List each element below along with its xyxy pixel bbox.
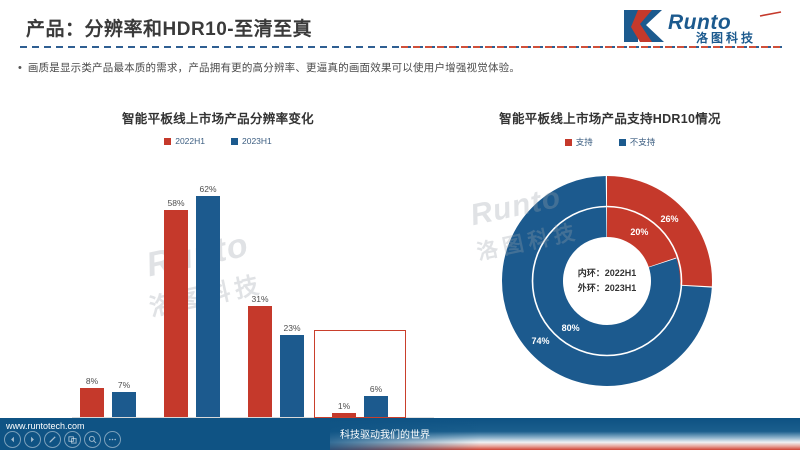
donut-center-line-2: 外环：2023H1 <box>578 281 637 296</box>
bar-rect[interactable] <box>364 396 388 417</box>
legend-item-not-support: 不支持 <box>619 136 656 148</box>
slide-header: 产品：分辨率和HDR10-至清至真 Runto 洛图科技 <box>0 0 800 56</box>
all-slides-button[interactable] <box>64 431 81 448</box>
slideshow-controls[interactable] <box>4 431 121 448</box>
previous-slide-button[interactable] <box>4 431 21 448</box>
bar-value-label: 6% <box>370 384 382 394</box>
page-title: 产品：分辨率和HDR10-至清至真 <box>26 14 312 41</box>
bar-2022h1[interactable]: 1% <box>332 167 356 417</box>
bar-rect[interactable] <box>164 210 188 417</box>
donut-center-label: 内环：2022H1 外环：2023H1 <box>578 266 637 296</box>
bar-rect[interactable] <box>280 335 304 417</box>
legend-label-support: 支持 <box>576 136 593 148</box>
bullet-marker-icon: • <box>18 60 22 76</box>
bar-group-25k: 31%23%2.5K <box>234 167 318 417</box>
donut-chart-legend: 支持 不支持 <box>430 136 790 148</box>
bar-2022h1[interactable]: 8% <box>80 167 104 417</box>
runto-logo-mark: Runto 洛图科技 <box>618 6 788 46</box>
runto-logo: Runto 洛图科技 <box>618 6 788 46</box>
pen-tool-button[interactable] <box>44 431 61 448</box>
bar-rect[interactable] <box>332 413 356 417</box>
svg-text:洛图科技: 洛图科技 <box>696 30 756 45</box>
bar-rect[interactable] <box>80 388 104 417</box>
more-options-button[interactable] <box>104 431 121 448</box>
presentation-slide: 产品：分辨率和HDR10-至清至真 Runto 洛图科技 • 画质是显示类产品最… <box>0 0 800 450</box>
footer-url: www.runtotech.com <box>6 421 85 431</box>
legend-swatch-not-support <box>619 139 626 146</box>
bar-2023h1[interactable]: 6% <box>364 167 388 417</box>
bar-2022h1[interactable]: 58% <box>164 167 188 417</box>
bar-rect[interactable] <box>248 306 272 417</box>
donut-label-outer-support: 26% <box>661 214 679 224</box>
bar-pair: 58%62% <box>150 167 234 417</box>
bar-2022h1[interactable]: 31% <box>248 167 272 417</box>
bar-value-label: 7% <box>118 380 130 390</box>
next-slide-button[interactable] <box>24 431 41 448</box>
bar-2023h1[interactable]: 62% <box>196 167 220 417</box>
bar-2023h1[interactable]: 23% <box>280 167 304 417</box>
donut-center-line-1: 内环：2022H1 <box>578 266 637 281</box>
donut-label-outer-not-support: 74% <box>531 336 549 346</box>
legend-item-2023h1: 2023H1 <box>231 136 272 146</box>
legend-item-2022h1: 2022H1 <box>164 136 205 146</box>
footer-slogan: 科技驱动我们的世界 <box>340 426 430 441</box>
bar-2023h1[interactable]: 7% <box>112 167 136 417</box>
bar-value-label: 31% <box>251 294 268 304</box>
donut-chart-title: 智能平板线上市场产品支持HDR10情况 <box>430 108 790 127</box>
bar-group-25k: 1%6%>2.5K <box>318 167 402 417</box>
legend-label-not-support: 不支持 <box>630 136 656 148</box>
bar-value-label: 62% <box>199 184 216 194</box>
bar-rect[interactable] <box>196 196 220 417</box>
title-divider <box>20 46 782 48</box>
bar-chart-plot-area: Runto 洛图科技 8%7%<2K58%62%2K31%23%2.5K1%6%… <box>40 166 412 450</box>
bar-value-label: 8% <box>86 376 98 386</box>
legend-label-2023h1: 2023H1 <box>242 136 272 146</box>
legend-swatch-2023h1 <box>231 138 238 145</box>
resolution-bar-chart: 智能平板线上市场产品分辨率变化 2022H1 2023H1 Runto 洛图科技… <box>18 108 418 408</box>
bullet-text: 画质是显示类产品最本质的需求，产品拥有更的高分辨率、更逼真的画面效果可以使用户增… <box>28 60 520 76</box>
legend-swatch-support <box>565 139 572 146</box>
bar-rect[interactable] <box>112 392 136 417</box>
hdr10-donut-chart: 智能平板线上市场产品支持HDR10情况 支持 不支持 Runto 洛图科技 内环… <box>430 108 790 408</box>
bar-pair: 1%6% <box>318 167 402 417</box>
bar-chart-title: 智能平板线上市场产品分辨率变化 <box>18 108 418 127</box>
bar-value-label: 23% <box>283 323 300 333</box>
legend-swatch-2022h1 <box>164 138 171 145</box>
bar-group-2k: 58%62%2K <box>150 167 234 417</box>
donut-label-inner-not-support: 80% <box>562 323 580 333</box>
bullet-paragraph: • 画质是显示类产品最本质的需求，产品拥有更的高分辨率、更逼真的画面效果可以使用… <box>18 60 788 76</box>
slide-footer: www.runtotech.com 科技驱动我们的世界 <box>0 418 800 450</box>
bar-pair: 31%23% <box>234 167 318 417</box>
donut-label-inner-support: 20% <box>630 227 648 237</box>
bar-value-label: 1% <box>338 401 350 411</box>
legend-item-support: 支持 <box>565 136 593 148</box>
bar-chart-legend: 2022H1 2023H1 <box>18 136 418 146</box>
donut-rings: Runto 洛图科技 内环：2022H1 外环：2023H1 20%80%26%… <box>492 166 722 396</box>
bar-pair: 8%7% <box>66 167 150 417</box>
zoom-button[interactable] <box>84 431 101 448</box>
legend-label-2022h1: 2022H1 <box>175 136 205 146</box>
bar-value-label: 58% <box>167 198 184 208</box>
bar-group-2k: 8%7%<2K <box>66 167 150 417</box>
